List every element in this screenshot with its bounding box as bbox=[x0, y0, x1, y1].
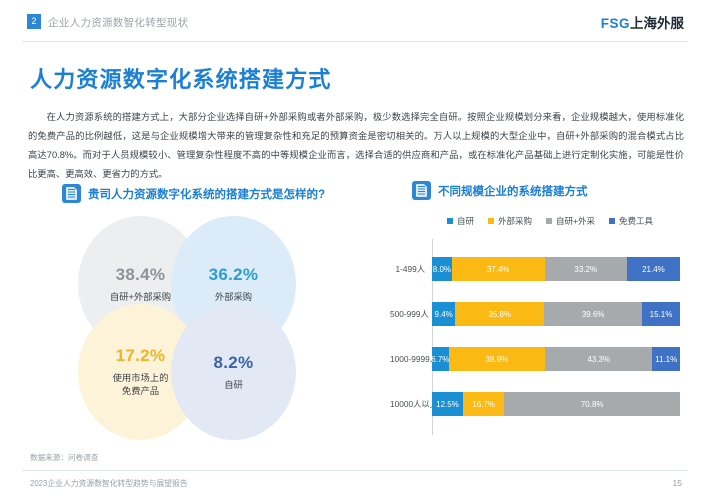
legend-label: 外部采购 bbox=[498, 215, 532, 227]
logo-cn-text: 上海外服 bbox=[630, 16, 684, 31]
chart-segment[interactable]: 21.4% bbox=[627, 257, 680, 281]
chart-segment[interactable]: 9.4% bbox=[432, 302, 455, 326]
chart-segment[interactable]: 35.8% bbox=[455, 302, 544, 326]
chart-segment[interactable]: 15.1% bbox=[642, 302, 679, 326]
chart-segment[interactable]: 38.9% bbox=[449, 347, 545, 371]
document-icon bbox=[62, 184, 81, 203]
slide-header: 2 企业人力资源数智化转型现状 FSG上海外服 bbox=[0, 0, 710, 40]
circle-external-value: 36.2% bbox=[209, 265, 259, 285]
legend-label: 自研 bbox=[457, 215, 474, 227]
circle-hybrid-label: 自研+外部采购 bbox=[110, 291, 171, 304]
chart-category-label: 10000人以上 bbox=[390, 398, 430, 410]
chart-segment[interactable]: 43.3% bbox=[545, 347, 652, 371]
chart-category-label: 500-999人 bbox=[390, 308, 430, 320]
legend-item-0[interactable]: 自研 bbox=[447, 215, 474, 227]
left-section-label: 贵司人力资源数字化系统的搭建方式是怎样的? bbox=[88, 186, 325, 202]
header-divider bbox=[22, 41, 688, 42]
chart-segment[interactable]: 70.8% bbox=[504, 392, 680, 416]
legend-swatch-icon bbox=[546, 218, 552, 224]
chart-segment[interactable]: 37.4% bbox=[452, 257, 545, 281]
footer-divider bbox=[22, 470, 688, 471]
chart-bar: 6.7%38.9%43.3%11.1% bbox=[432, 347, 680, 371]
circle-self-value: 8.2% bbox=[214, 353, 254, 373]
legend-swatch-icon bbox=[488, 218, 494, 224]
brand-logo: FSG上海外服 bbox=[601, 12, 684, 32]
circle-external-label: 外部采购 bbox=[215, 291, 252, 304]
chart-category-label: 1-499人 bbox=[390, 263, 430, 275]
legend-item-3[interactable]: 免费工具 bbox=[609, 215, 653, 227]
chart-segment[interactable]: 6.7% bbox=[432, 347, 449, 371]
chart-category-label: 1000-9999人 bbox=[390, 353, 430, 365]
body-paragraph: 在人力资源系统的搭建方式上，大部分企业选择自研+外部采购或者外部采购，极少数选择… bbox=[28, 108, 684, 184]
chart-row: 1000-9999人6.7%38.9%43.3%11.1% bbox=[390, 347, 690, 371]
circle-self: 8.2% 自研 bbox=[171, 304, 296, 440]
circle-free-label: 使用市场上的 免费产品 bbox=[113, 372, 169, 398]
chart-row: 10000人以上12.5%16.7%70.8% bbox=[390, 392, 690, 416]
chart-segment[interactable]: 16.7% bbox=[463, 392, 504, 416]
chart-row: 1-499人8.0%37.4%33.2%21.4% bbox=[390, 257, 690, 281]
footer-report-title: 2023企业人力资源数智化转型趋势与展望报告 bbox=[30, 478, 188, 489]
page-number: 15 bbox=[673, 478, 682, 488]
logo-mark-text: FSG bbox=[601, 16, 630, 31]
chart-bar: 12.5%16.7%70.8% bbox=[432, 392, 680, 416]
venn-circles-group: 38.4% 自研+外部采购 36.2% 外部采购 17.2% 使用市场上的 免费… bbox=[78, 216, 308, 441]
chart-segment[interactable]: 12.5% bbox=[432, 392, 463, 416]
chart-bar: 9.4%35.8%39.6%15.1% bbox=[432, 302, 680, 326]
data-source-note: 数据来源：问卷调查 bbox=[30, 452, 98, 463]
header-section-title: 企业人力资源数智化转型现状 bbox=[48, 15, 188, 30]
stacked-bar-chart: 自研外部采购自研+外采免费工具 1-499人8.0%37.4%33.2%21.4… bbox=[390, 215, 690, 443]
circle-hybrid-value: 38.4% bbox=[116, 265, 166, 285]
chart-plot-area: 1-499人8.0%37.4%33.2%21.4%500-999人9.4%35.… bbox=[390, 239, 690, 435]
page-title: 人力资源数字化系统搭建方式 bbox=[30, 62, 332, 94]
document-icon bbox=[412, 181, 431, 200]
legend-swatch-icon bbox=[609, 218, 615, 224]
left-section-heading: 贵司人力资源数字化系统的搭建方式是怎样的? bbox=[62, 184, 325, 203]
chart-segment[interactable]: 39.6% bbox=[544, 302, 642, 326]
legend-label: 免费工具 bbox=[619, 215, 653, 227]
legend-swatch-icon bbox=[447, 218, 453, 224]
right-section-label: 不同规模企业的系统搭建方式 bbox=[438, 183, 588, 199]
chart-legend: 自研外部采购自研+外采免费工具 bbox=[410, 215, 690, 227]
legend-label: 自研+外采 bbox=[556, 215, 595, 227]
chart-segment[interactable]: 11.1% bbox=[652, 347, 680, 371]
legend-item-2[interactable]: 自研+外采 bbox=[546, 215, 595, 227]
chart-segment[interactable]: 33.2% bbox=[545, 257, 627, 281]
slide: 2 企业人力资源数智化转型现状 FSG上海外服 人力资源数字化系统搭建方式 在人… bbox=[0, 0, 710, 501]
legend-item-1[interactable]: 外部采购 bbox=[488, 215, 532, 227]
right-section-heading: 不同规模企业的系统搭建方式 bbox=[412, 181, 588, 200]
section-number-badge: 2 bbox=[27, 14, 41, 29]
chart-segment[interactable]: 8.0% bbox=[432, 257, 452, 281]
circle-free-value: 17.2% bbox=[116, 346, 166, 366]
chart-row: 500-999人9.4%35.8%39.6%15.1% bbox=[390, 302, 690, 326]
circle-self-label: 自研 bbox=[224, 379, 243, 392]
chart-bar: 8.0%37.4%33.2%21.4% bbox=[432, 257, 680, 281]
